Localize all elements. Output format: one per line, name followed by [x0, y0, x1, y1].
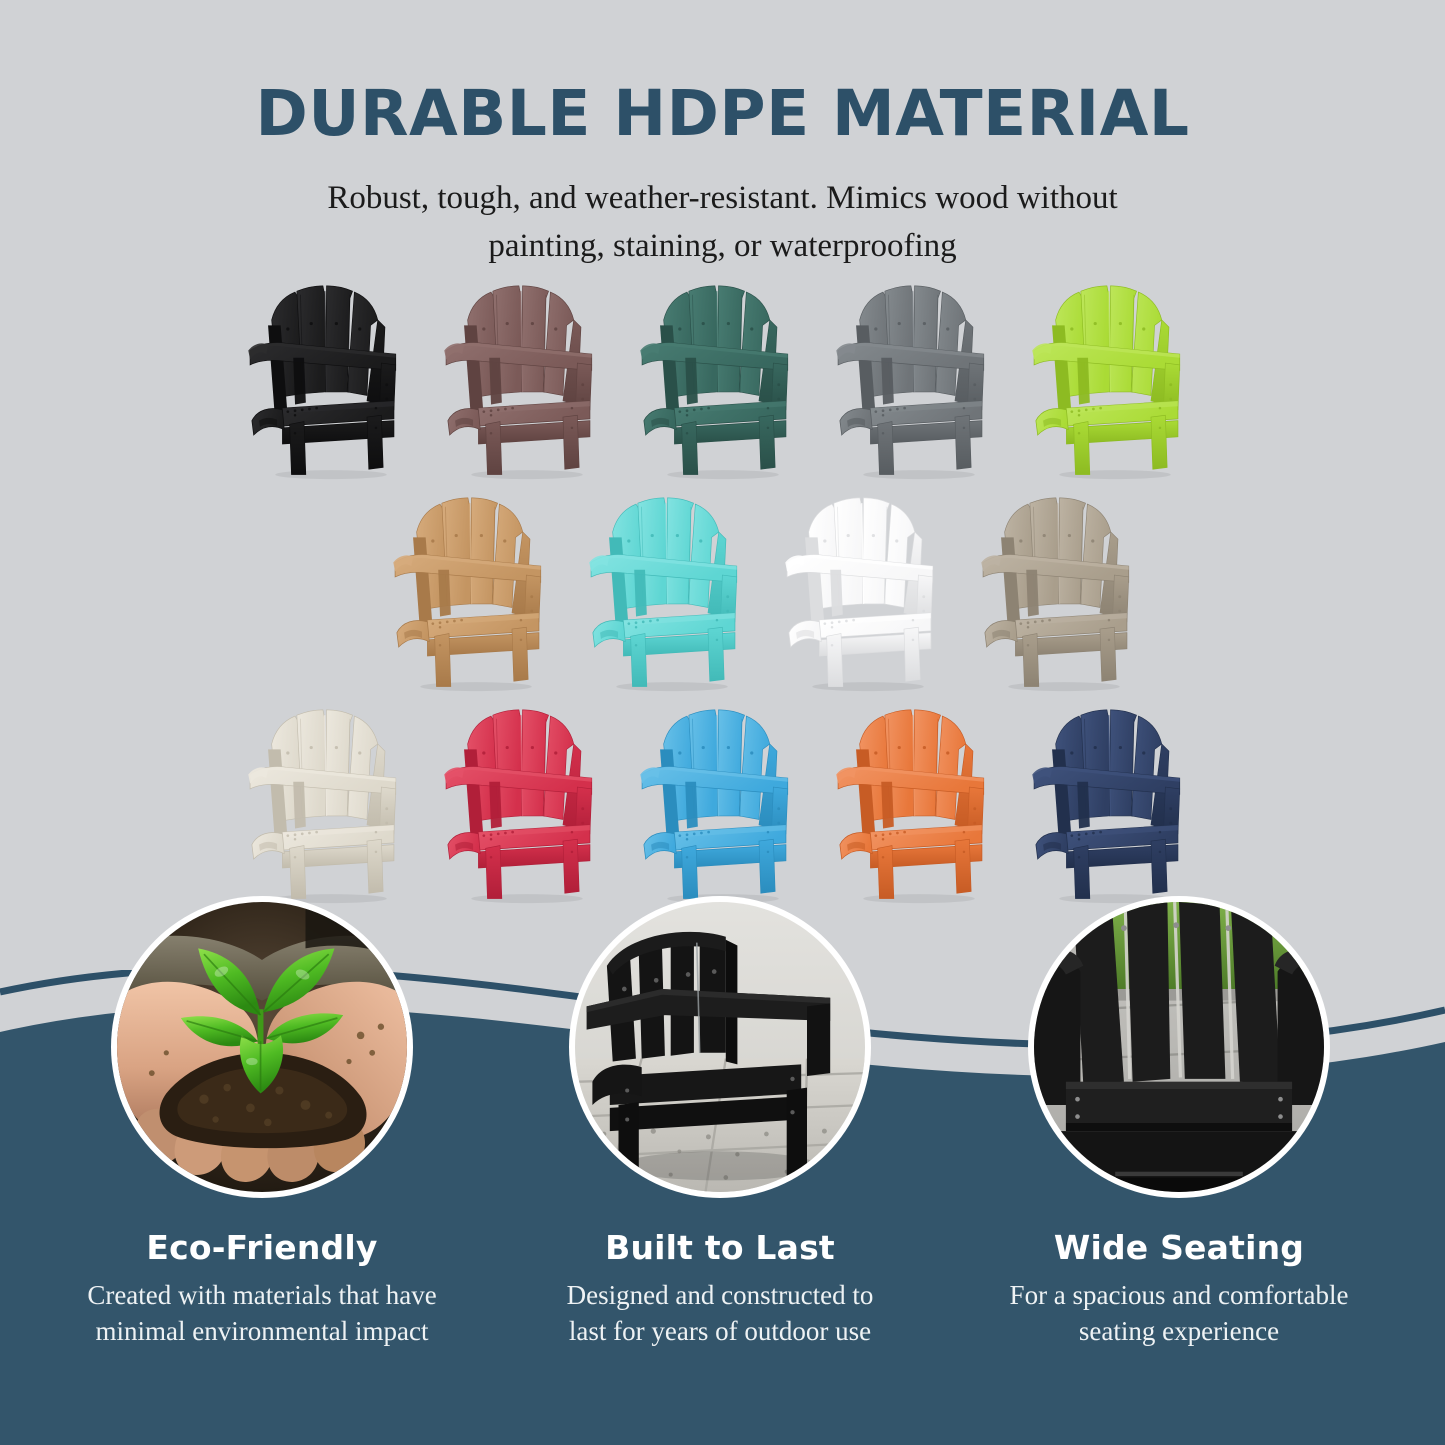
- feature-description: Created with materials that have minimal…: [27, 1277, 497, 1349]
- chair-swatch-red[interactable]: [429, 699, 625, 904]
- feature-description: For a spacious and comfortable seating e…: [944, 1277, 1414, 1349]
- subtitle-line-1: Robust, tough, and weather-resistant. Mi…: [218, 175, 1228, 223]
- feature-desc-line-2: seating experience: [954, 1313, 1404, 1349]
- adirondack-chair-brown: [437, 284, 617, 480]
- adirondack-chair-white: [778, 496, 958, 692]
- chair-swatch-dark-green[interactable]: [625, 275, 821, 480]
- wide-seat-closeup-illustration: [1034, 902, 1324, 1192]
- chair-swatch-white[interactable]: [770, 487, 966, 692]
- page-title: DURABLE HDPE MATERIAL: [0, 0, 1445, 145]
- feature-desc-line-1: Created with materials that have: [37, 1277, 487, 1313]
- feature-list: Eco-Friendly Created with materials that…: [0, 896, 1445, 1445]
- adirondack-chair-weathered-wood: [974, 496, 1154, 692]
- adirondack-chair-turquoise: [582, 496, 762, 692]
- adirondack-chair-navy-blue: [1025, 708, 1205, 904]
- chair-swatch-gray[interactable]: [821, 275, 1017, 480]
- feature-desc-line-2: last for years of outdoor use: [495, 1313, 945, 1349]
- chair-swatch-black[interactable]: [233, 275, 429, 480]
- adirondack-chair-red: [437, 708, 617, 904]
- feature-image-ring: [1028, 896, 1330, 1198]
- chair-swatch-light-blue[interactable]: [625, 699, 821, 904]
- adirondack-chair-gray: [829, 284, 1009, 480]
- adirondack-chair-orange: [829, 708, 1009, 904]
- chair-swatch-ivory[interactable]: [233, 699, 429, 904]
- adirondack-chair-lime-green: [1025, 284, 1205, 480]
- chair-wide-seat-closeup-photo: [1034, 902, 1324, 1192]
- chair-swatch-orange[interactable]: [821, 699, 1017, 904]
- chair-swatch-weathered-wood[interactable]: [966, 487, 1162, 692]
- adirondack-chair-black: [241, 284, 421, 480]
- adirondack-chair-dark-green: [633, 284, 813, 480]
- chair-row-2: [0, 480, 1445, 692]
- feature-title: Wide Seating: [944, 1228, 1414, 1267]
- black-chair-patio-illustration: [575, 902, 865, 1192]
- chair-row-1: [0, 268, 1445, 480]
- feature-title: Built to Last: [485, 1228, 955, 1267]
- hands-holding-seedling-photo: [117, 902, 407, 1192]
- feature-desc-line-2: minimal environmental impact: [37, 1313, 487, 1349]
- feature-desc-line-1: For a spacious and comfortable: [954, 1277, 1404, 1313]
- chair-swatch-brown[interactable]: [429, 275, 625, 480]
- chair-swatch-navy-blue[interactable]: [1017, 699, 1213, 904]
- feature-image-ring: [569, 896, 871, 1198]
- feature-image-ring: [111, 896, 413, 1198]
- infographic-page: DURABLE HDPE MATERIAL Robust, tough, and…: [0, 0, 1445, 1445]
- adirondack-chair-teak: [386, 496, 566, 692]
- chair-swatch-lime-green[interactable]: [1017, 275, 1213, 480]
- chair-swatch-teak[interactable]: [378, 487, 574, 692]
- feature-built-to-last: Built to Last Designed and constructed t…: [485, 896, 955, 1349]
- chair-color-swatch-grid: [0, 268, 1445, 904]
- feature-desc-line-1: Designed and constructed to: [495, 1277, 945, 1313]
- feature-wide-seating: Wide Seating For a spacious and comforta…: [944, 896, 1414, 1349]
- adirondack-chair-light-blue: [633, 708, 813, 904]
- adirondack-chair-ivory: [241, 708, 421, 904]
- page-subtitle: Robust, tough, and weather-resistant. Mi…: [218, 145, 1228, 271]
- chair-swatch-turquoise[interactable]: [574, 487, 770, 692]
- feature-eco-friendly: Eco-Friendly Created with materials that…: [27, 896, 497, 1349]
- feature-title: Eco-Friendly: [27, 1228, 497, 1267]
- chair-row-3: [0, 692, 1445, 904]
- feature-description: Designed and constructed to last for yea…: [485, 1277, 955, 1349]
- subtitle-line-2: painting, staining, or waterproofing: [218, 223, 1228, 271]
- seedling-illustration: [117, 902, 407, 1192]
- black-chair-on-patio-photo: [575, 902, 865, 1192]
- header: DURABLE HDPE MATERIAL Robust, tough, and…: [0, 0, 1445, 271]
